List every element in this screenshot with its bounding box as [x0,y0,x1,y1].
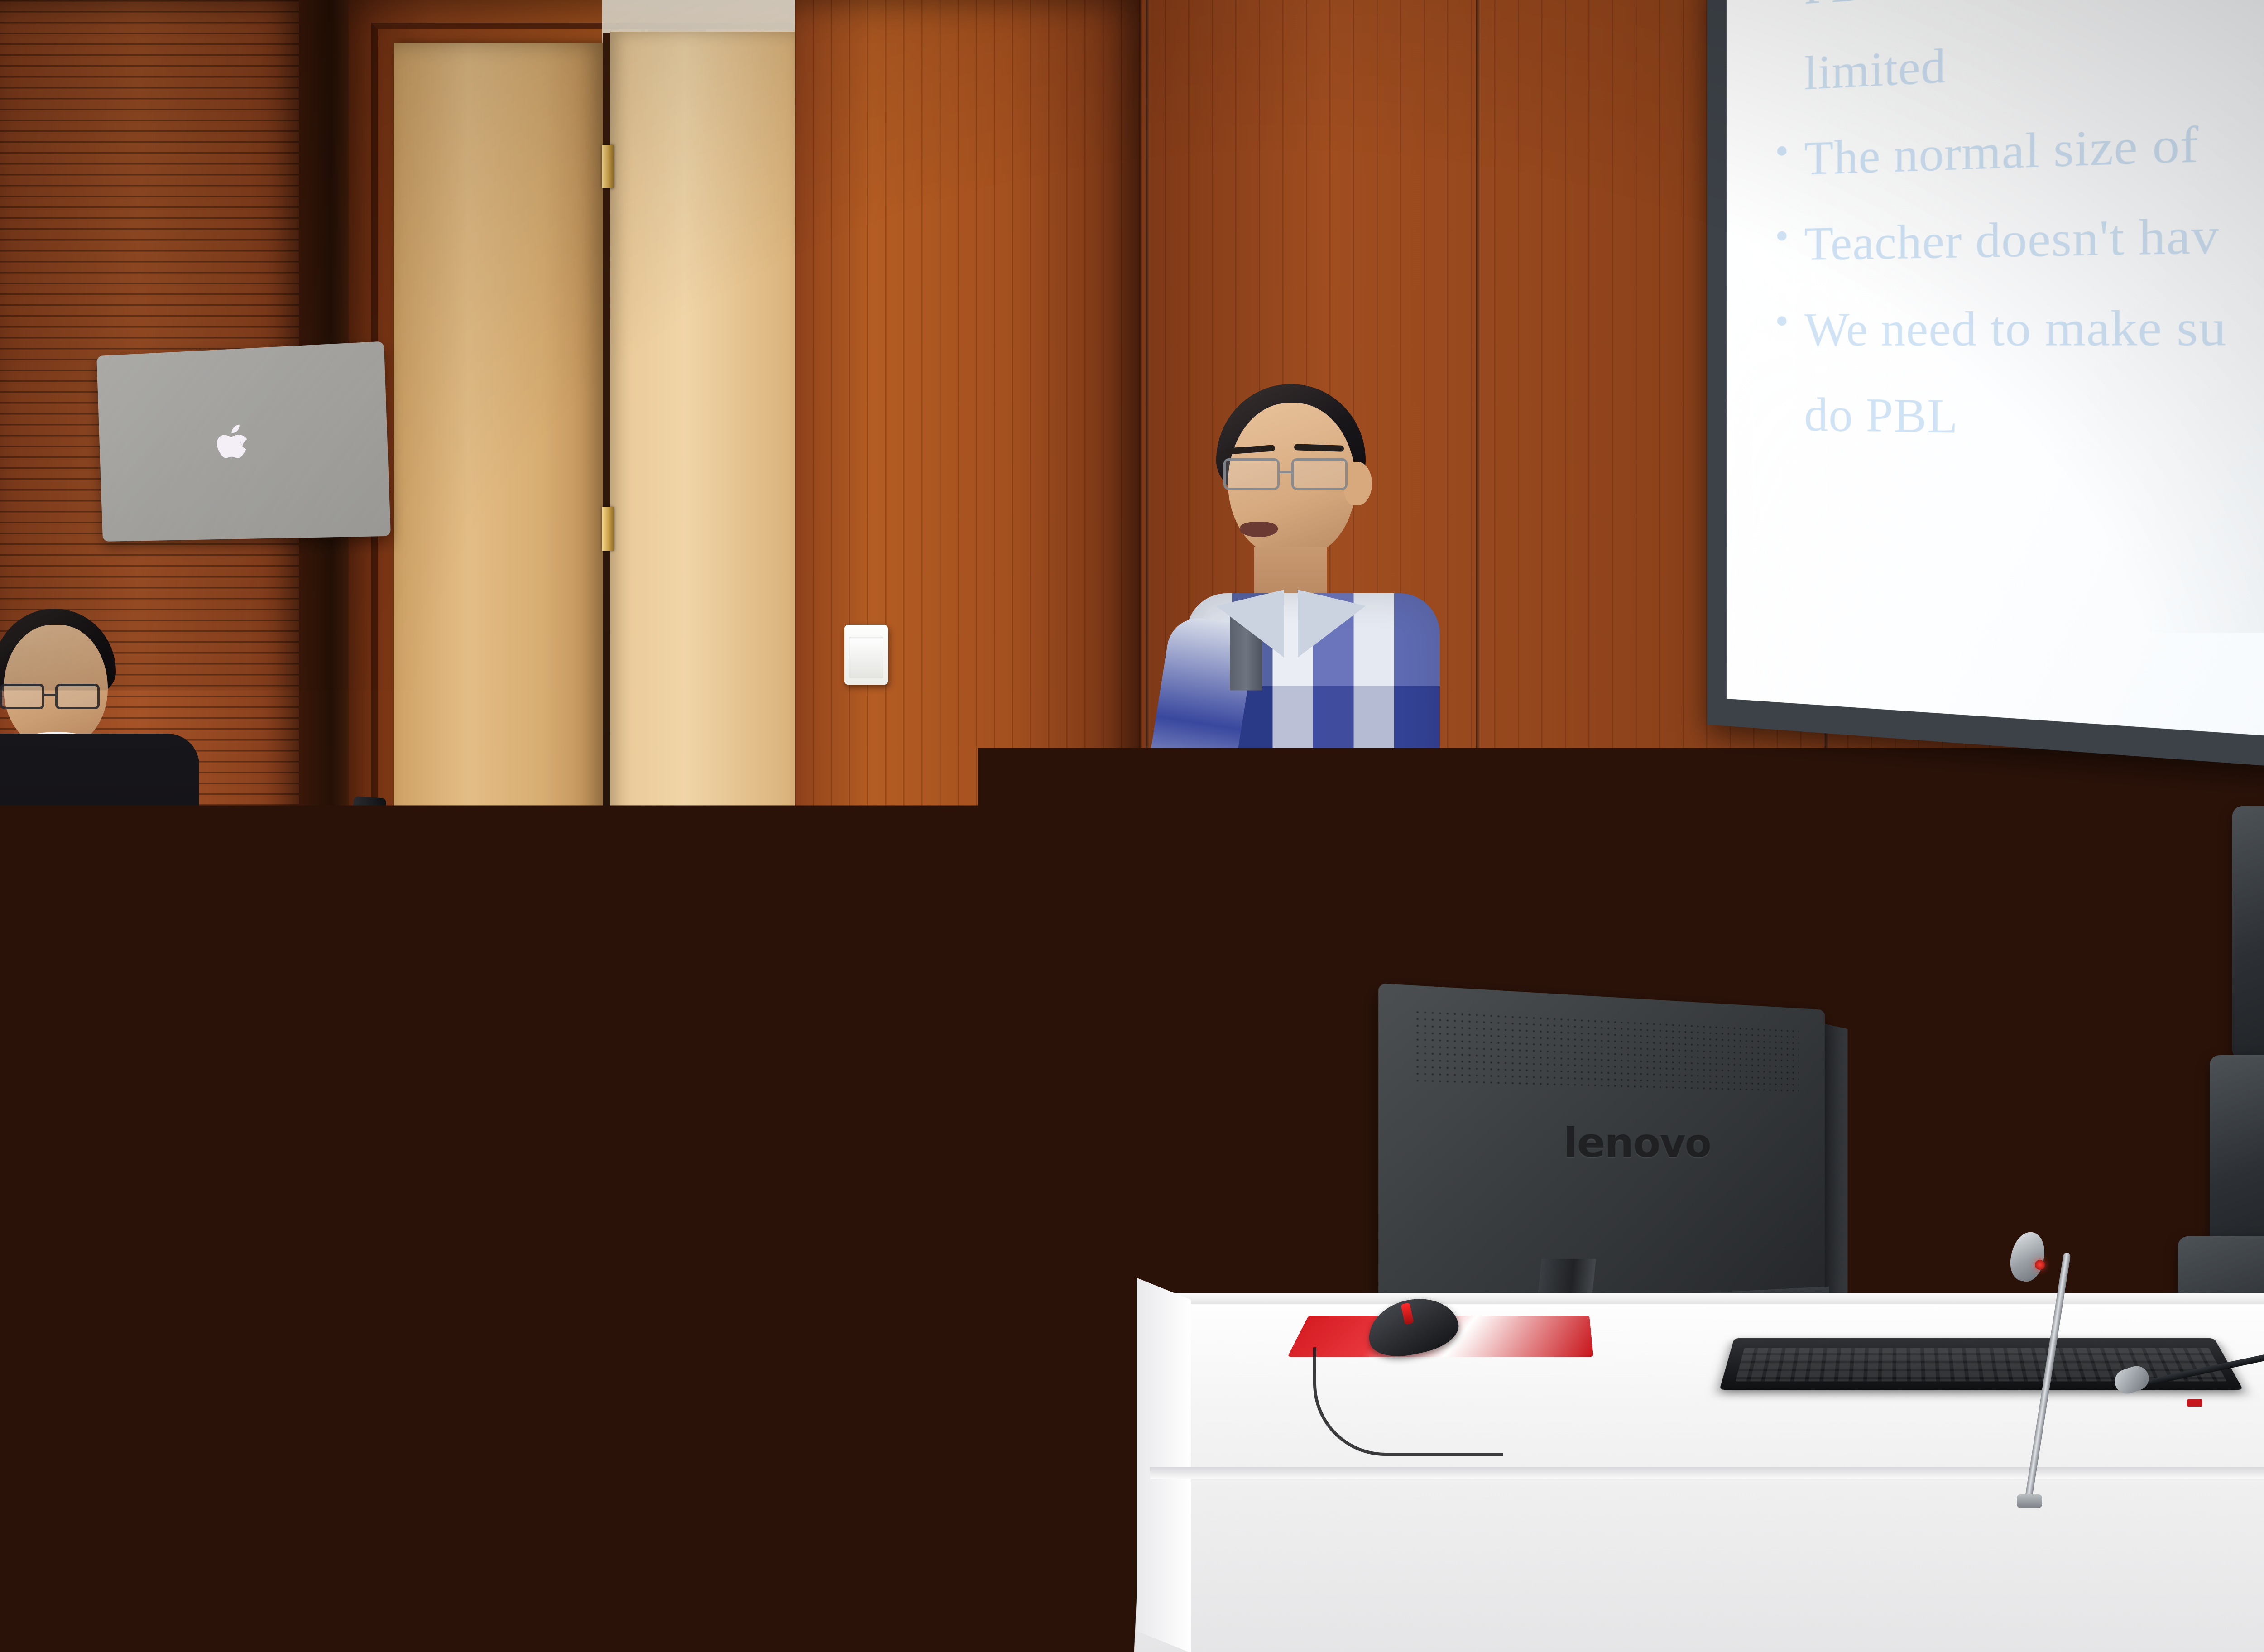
draped-jacket [358,906,548,1096]
bottle-cap [142,1304,188,1329]
projection-screen-surface: PBL limited The normal size of Teacher d… [1727,0,2264,760]
tablet-device[interactable] [0,1529,271,1652]
monitor-vent-grille [1414,1008,1799,1092]
tshirt-letter: D [89,802,132,856]
bottle-neck [594,1493,633,1516]
presenter-lens-left [1223,458,1280,490]
bottle-brand-text: Nestle [127,1434,204,1449]
dark-chair-back-1[interactable] [2232,806,2264,1060]
gooseneck2-stem [2129,1352,2264,1389]
slide-bullet-list: PBL limited The normal size of Teacher d… [1771,0,2264,476]
mouse-cable [1313,1347,1503,1456]
red-bag [253,1012,376,1111]
gooseneck-stem [2024,1253,2071,1504]
conference-room-photo: PBL limited The normal size of Teacher d… [0,0,2264,1652]
lectern-lip [1150,1467,2264,1479]
lenovo-monitor[interactable]: lenovo [1378,983,1825,1335]
door-hinge-middle [602,507,614,551]
apple-logo-icon [213,421,256,472]
presenter-lens-right [1291,458,1348,490]
mic-active-led-icon [2035,1260,2045,1270]
bottle-brand-text: Nestle [27,1411,104,1426]
water-bottle[interactable]: Nestle [127,1304,204,1517]
door-hinge-top [602,145,614,188]
water-bottle[interactable]: Nestle [27,1282,104,1494]
attendee-lens-right [55,684,100,709]
dark-chair-back-2[interactable] [2210,1055,2264,1250]
presenter-hand [1232,842,1295,928]
bottle-label: Nestle [127,1415,204,1479]
tshirt-letter: J [86,907,109,960]
tshirt-letter: B [17,808,57,862]
light-switch[interactable] [844,625,888,685]
floor-outlet[interactable] [829,1241,878,1295]
lectern-left-edge [1137,1278,1191,1652]
presenter-mouth [1240,522,1278,537]
tshirt-letter: I [66,908,89,961]
attendee-glasses [0,684,108,710]
bottle-neck [46,1306,86,1334]
tshirt-letter: E [129,800,165,854]
bottle-cap [43,1282,89,1306]
lenovo-logo: lenovo [1563,1119,1710,1167]
water-bottle[interactable]: Nestle [575,1472,652,1652]
gooseneck-microphone[interactable] [2006,1232,2065,1513]
bottle-neck [145,1329,185,1356]
bottle-cap [590,1472,637,1493]
bottle-label: Nestle [575,1566,652,1620]
slide-bullet-5: do PBL [1771,374,2264,473]
gooseneck-capsule [2006,1229,2048,1285]
tshirt-letter: C [53,805,92,859]
gooseneck-base [2017,1494,2042,1508]
bottle-label: Nestle [27,1392,104,1456]
attendee-tshirt-neckline [21,730,93,765]
presenter-glasses [1223,458,1359,491]
tea-mug-inscription: 学为人师 行为世范 [2236,1449,2264,1599]
slide-bullet-4: We need to make su [1771,279,2264,375]
screw-icon [1885,1260,1891,1266]
attendee-lens-left [0,684,44,709]
door-hinge-bottom [602,1123,614,1167]
bottle-brand-text: Nestle [575,1582,652,1597]
tshirt-letter: K [105,904,146,958]
pink-paper [442,1589,595,1652]
projection-screen: PBL limited The normal size of Teacher d… [1707,0,2264,792]
door-leaf-right[interactable] [610,32,796,1300]
microphone-head-icon [1234,711,1278,754]
tea-mug-knob [2214,1376,2240,1406]
video-jack-icon [1862,1273,1877,1289]
tshirt-letter: L [143,902,177,956]
